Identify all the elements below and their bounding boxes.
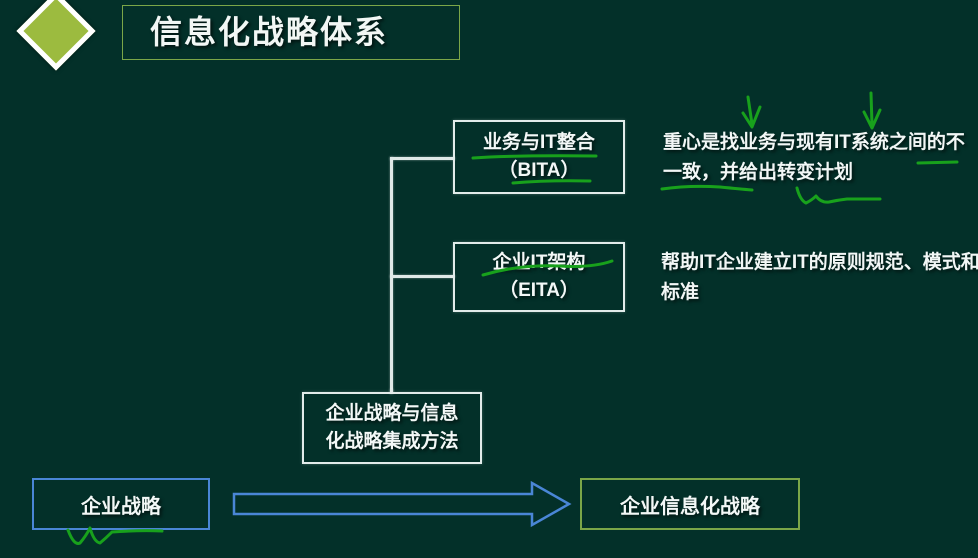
green-squiggle-desc-2 xyxy=(797,188,880,203)
box-informatization-strategy[interactable]: 企业信息化战略 xyxy=(580,478,800,530)
title-diamond-icon xyxy=(16,0,95,71)
node-bita-line1: 业务与IT整合 xyxy=(483,129,595,157)
box-informatization-strategy-label: 企业信息化战略 xyxy=(620,490,760,519)
box-enterprise-strategy-label: 企业战略 xyxy=(81,490,161,519)
node-method-line2: 化战略集成方法 xyxy=(325,428,458,456)
node-bita[interactable]: 业务与IT整合 （BITA） xyxy=(453,120,625,194)
description-bita: 重心是找业务与现有IT系统之间的不一致，并给出转变计划 xyxy=(663,128,978,188)
box-enterprise-strategy[interactable]: 企业战略 xyxy=(32,478,210,530)
green-arrow-down-1 xyxy=(743,97,760,127)
description-eita: 帮助IT企业建立IT的原则规范、模式和标准 xyxy=(661,248,978,308)
page-title: 信息化战略体系 xyxy=(150,10,450,55)
node-method-line1: 企业战略与信息 xyxy=(325,400,458,428)
node-eita[interactable]: 企业IT架构 （EITA） xyxy=(453,242,625,312)
node-eita-line2: （EITA） xyxy=(499,277,579,305)
node-eita-line1: 企业IT架构 xyxy=(493,249,586,277)
node-bita-line2: （BITA） xyxy=(499,157,580,185)
green-squiggle-strategy xyxy=(68,528,162,543)
right-arrow-icon xyxy=(232,480,572,528)
slide-canvas: 信息化战略体系 业务与IT整合 （BITA） 企业IT架构 （EITA） 企业战… xyxy=(0,0,978,558)
node-integration-method[interactable]: 企业战略与信息 化战略集成方法 xyxy=(302,392,482,464)
green-arrow-down-2 xyxy=(864,93,880,128)
connector-branch-bita xyxy=(390,157,455,160)
connector-branch-eita xyxy=(390,275,455,278)
